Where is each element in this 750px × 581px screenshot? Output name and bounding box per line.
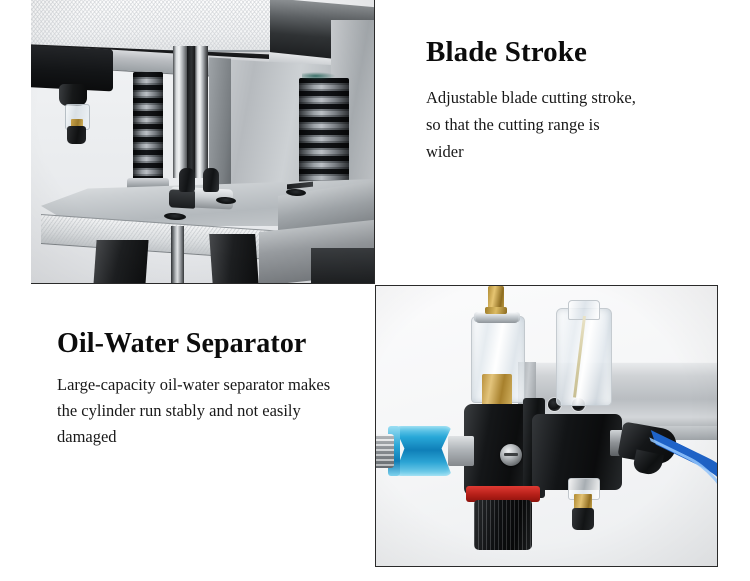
- green-grease-smear: [302, 72, 336, 80]
- drain-black-plug: [572, 508, 594, 530]
- oil-water-separator-scene: [376, 286, 717, 566]
- blade-stroke-scene: [31, 0, 374, 283]
- clamp-nut-right: [203, 168, 219, 192]
- oil-water-separator-description: Large-capacity oil-water separator makes…: [57, 372, 349, 450]
- blade-stroke-text-block: Blade Stroke Adjustable blade cutting st…: [426, 36, 726, 166]
- body-screw: [500, 444, 522, 466]
- feature-grid-page: Blade Stroke Adjustable blade cutting st…: [0, 0, 750, 581]
- coil-column-left: [133, 72, 163, 182]
- blue-anodized-fitting: [394, 426, 452, 476]
- press-head-knob: [59, 84, 87, 106]
- brass-inlet-nipple: [488, 286, 504, 314]
- silver-connector-link: [448, 436, 474, 466]
- press-frame-leg-left: [93, 240, 148, 284]
- pressure-adjust-knob: [474, 500, 532, 550]
- oil-water-separator-heading: Oil-Water Separator: [57, 328, 367, 360]
- press-top-platen: [31, 0, 286, 52]
- head-oiler-drain-plug: [67, 126, 86, 144]
- chrome-threaded-stub: [375, 434, 394, 468]
- oil-water-separator-photo: [375, 285, 718, 567]
- blade-stroke-heading: Blade Stroke: [426, 36, 726, 69]
- clamp-nut-left: [179, 168, 195, 192]
- blade-stroke-description: Adjustable blade cutting stroke, so that…: [426, 85, 641, 165]
- blade-stroke-photo: [31, 0, 375, 284]
- oil-water-separator-text-block: Oil-Water Separator Large-capacity oil-w…: [57, 328, 367, 450]
- lower-guide-post: [171, 226, 184, 284]
- press-lower-shadow-block: [311, 248, 375, 284]
- tooling-clamp-dark-block: [169, 189, 195, 208]
- coil-column-right: [299, 78, 349, 188]
- guide-post-right: [195, 46, 208, 178]
- press-frame-leg-right: [209, 234, 259, 284]
